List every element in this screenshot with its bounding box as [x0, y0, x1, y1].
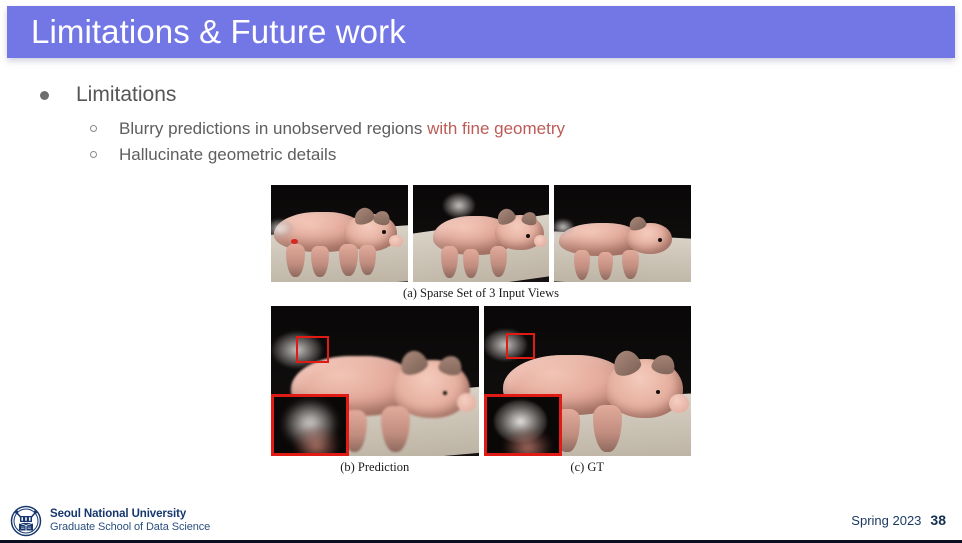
input-view-photo-2	[413, 185, 550, 282]
figure-caption-b: (b) Prediction	[271, 456, 479, 480]
figure-bottom-row	[271, 306, 691, 456]
figure-top-row	[271, 185, 691, 282]
bullet-level2-item-1: Blurry predictions in unobserved regions…	[34, 116, 854, 142]
bullet-disc-icon	[40, 91, 49, 100]
zoom-inset-prediction	[271, 394, 349, 456]
bullet-circle-icon	[90, 151, 97, 158]
bullet-circle-icon	[90, 125, 97, 132]
footer-branding: Seoul National University Graduate Schoo…	[10, 505, 210, 537]
zoom-inset-ground-truth	[484, 394, 562, 456]
footer-university-name: Seoul National University	[50, 507, 210, 521]
slide-canvas: Limitations & Future work Limitations Bl…	[0, 0, 962, 543]
footer-term: Spring 2023	[851, 513, 921, 528]
ground-truth-photo	[484, 306, 692, 456]
bullet-list: Limitations Blurry predictions in unobse…	[34, 80, 854, 168]
footer-meta: Spring 2023 38	[851, 512, 946, 528]
footer-department-name: Graduate School of Data Science	[50, 521, 210, 535]
bullet-level2-text: Blurry predictions in unobserved regions	[119, 119, 427, 138]
bullet-level1-limitations: Limitations	[34, 80, 854, 110]
snu-crest-icon	[10, 505, 42, 537]
input-view-photo-3	[554, 185, 691, 282]
figure-block: (a) Sparse Set of 3 Input Views	[271, 185, 691, 480]
figure-caption-c: (c) GT	[484, 456, 692, 480]
bullet-level2-text: Hallucinate geometric details	[119, 145, 336, 164]
figure-bottom-captions: (b) Prediction (c) GT	[271, 456, 691, 480]
region-of-interest-box	[296, 336, 329, 363]
bullet-level1-label: Limitations	[76, 83, 176, 106]
figure-caption-a: (a) Sparse Set of 3 Input Views	[271, 282, 691, 306]
input-view-photo-1	[271, 185, 408, 282]
slide-title-banner: Limitations & Future work	[7, 6, 955, 58]
bullet-level2-item-2: Hallucinate geometric details	[34, 142, 854, 168]
slide-page-number: 38	[930, 512, 946, 528]
region-of-interest-box	[506, 333, 535, 359]
bullet-level2-highlight: with fine geometry	[427, 119, 565, 138]
prediction-photo	[271, 306, 479, 456]
page-title: Limitations & Future work	[31, 13, 406, 51]
